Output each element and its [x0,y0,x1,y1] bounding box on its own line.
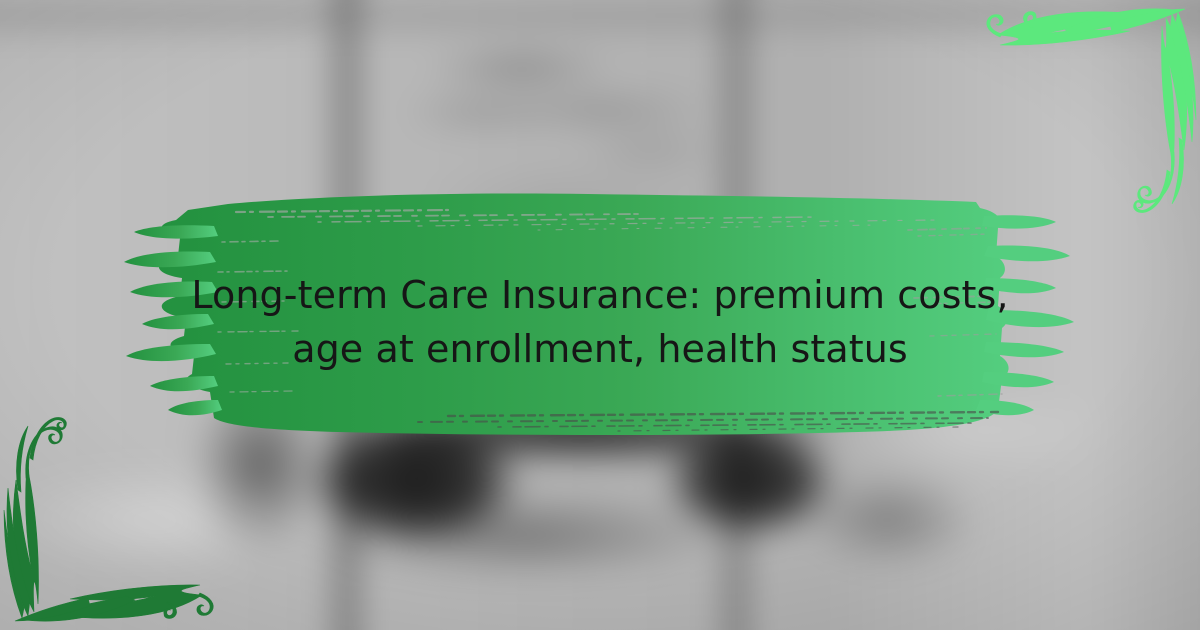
page-title: Long-term Care Insurance: premium costs,… [150,268,1050,376]
social-share-banner: Long-term Care Insurance: premium costs,… [0,0,1200,630]
